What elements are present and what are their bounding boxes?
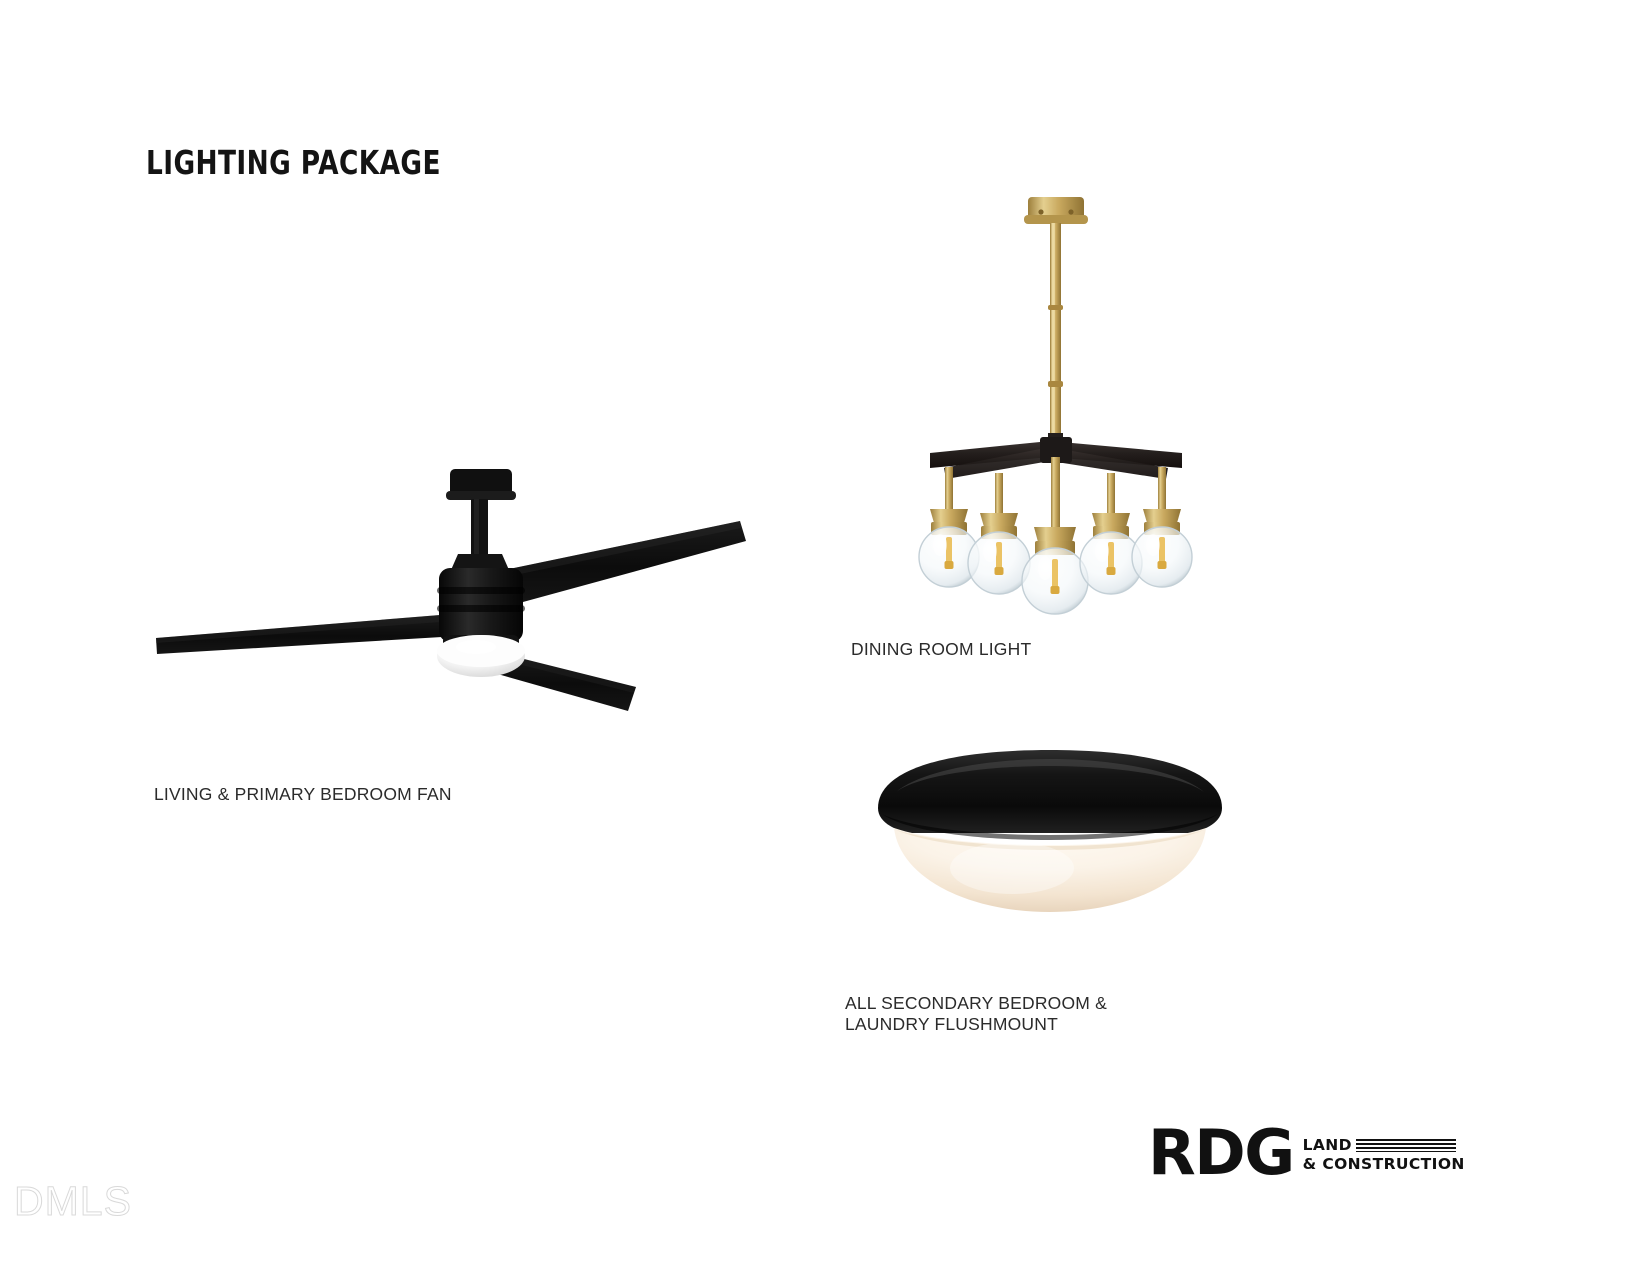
logo-tagline-row-construction: & CONSTRUCTION	[1303, 1155, 1465, 1174]
product-image-ceiling-fan	[140, 455, 770, 745]
logo-tagline-row-land: LAND	[1303, 1136, 1465, 1155]
logo-tagline-construction: & CONSTRUCTION	[1303, 1155, 1465, 1174]
product-image-chandelier	[900, 185, 1210, 625]
watermark-dmls: DMLS	[14, 1178, 132, 1225]
logo-tagline-land: LAND	[1303, 1136, 1352, 1155]
page-title: LIGHTING PACKAGE	[146, 143, 441, 182]
caption-dining-room-light: DINING ROOM LIGHT	[851, 639, 1031, 660]
product-image-flushmount	[870, 740, 1230, 915]
logo-tagline: LAND & CONSTRUCTION	[1303, 1136, 1465, 1179]
logo-stripes-icon	[1356, 1139, 1456, 1152]
caption-living-primary-bedroom-fan: LIVING & PRIMARY BEDROOM FAN	[154, 784, 452, 805]
lighting-package-page: LIGHTING PACKAGE	[0, 0, 1650, 1275]
caption-secondary-bedroom-laundry-flushmount: ALL SECONDARY BEDROOM & LAUNDRY FLUSHMOU…	[845, 993, 1107, 1035]
logo-wordmark: RDG	[1148, 1128, 1294, 1179]
rdg-logo: RDG LAND & CONSTRUCTION	[1148, 1128, 1465, 1179]
